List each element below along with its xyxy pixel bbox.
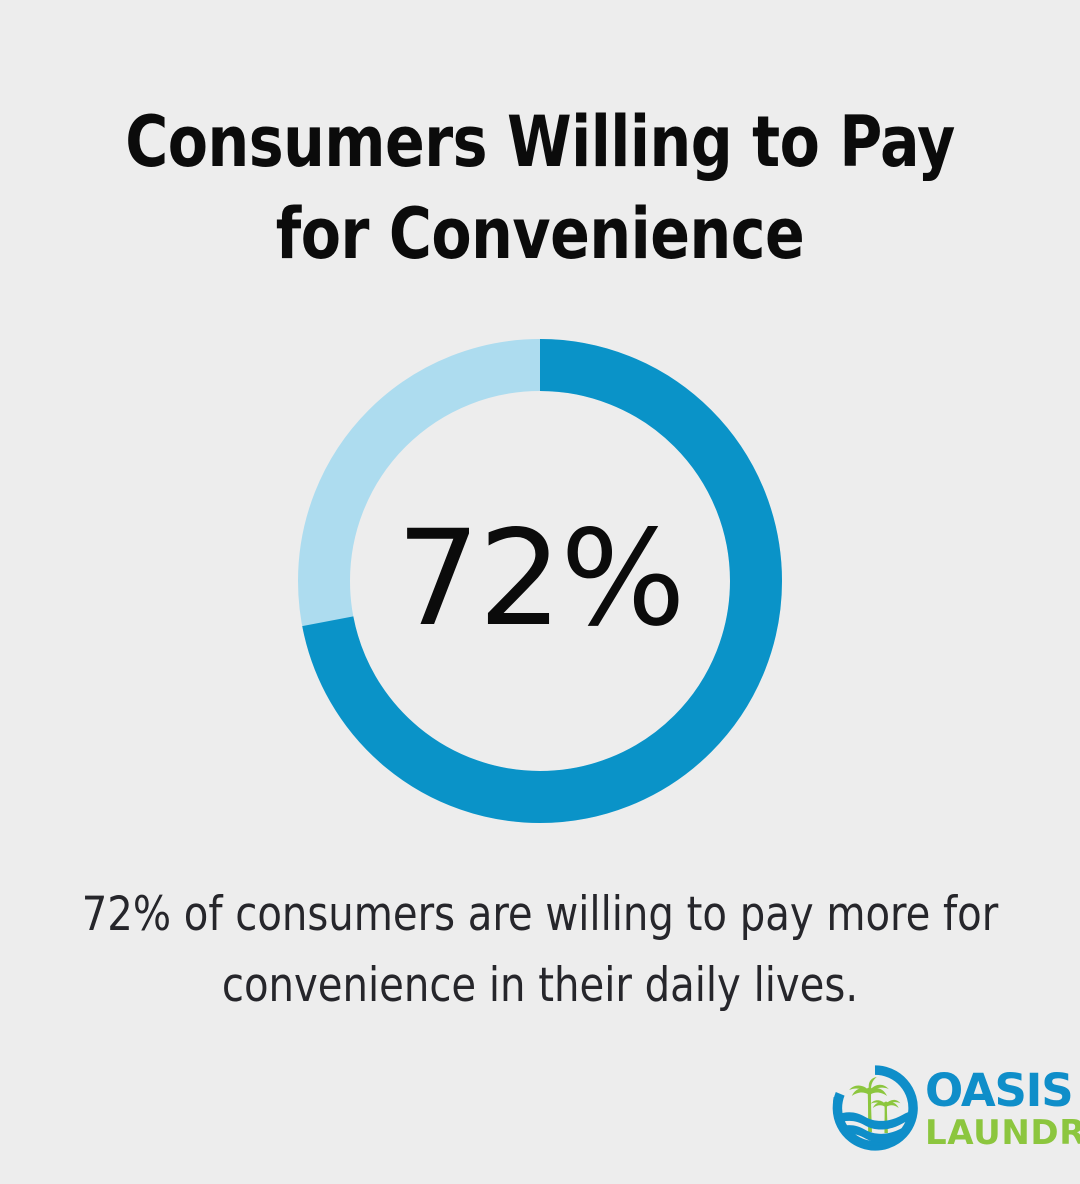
page-title: Consumers Willing to Pay for Convenience	[0, 96, 1080, 281]
wave-lines-icon	[832, 1110, 918, 1151]
donut-chart: 72%	[298, 339, 782, 823]
donut-chart-svg	[298, 339, 782, 823]
oasis-palm-wave-emblem-icon	[832, 1065, 918, 1151]
brand-name-secondary: LAUNDRY	[925, 1116, 1080, 1150]
brand-name-primary: OASIS	[925, 1068, 1080, 1113]
caption-line-2: convenience in their daily lives.	[65, 951, 1015, 1022]
caption: 72% of consumers are willing to pay more…	[0, 880, 1080, 1021]
brand-wordmark: OASIS LAUNDRY	[925, 1066, 1080, 1150]
infographic-canvas: Consumers Willing to Pay for Convenience…	[0, 0, 1080, 1184]
brand-logo: OASIS LAUNDRY	[832, 1058, 1048, 1158]
title-line-1: Consumers Willing to Pay	[38, 96, 1042, 188]
title-line-2: for Convenience	[38, 188, 1042, 280]
caption-line-1: 72% of consumers are willing to pay more…	[65, 880, 1015, 951]
